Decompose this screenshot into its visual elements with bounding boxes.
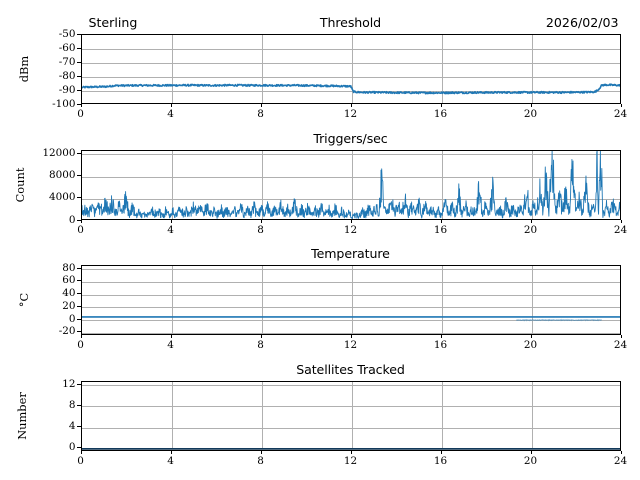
xtick-mark xyxy=(81,335,82,339)
xtick-mark xyxy=(441,451,442,455)
xtick-mark xyxy=(261,335,262,339)
chart-title-triggers_per_sec: Triggers/sec xyxy=(81,131,621,146)
data-series-threshold xyxy=(82,35,621,104)
xtick-mark xyxy=(171,451,172,455)
ytick-mark xyxy=(77,220,81,221)
xtick-label: 4 xyxy=(167,108,174,120)
data-series-satellites_tracked xyxy=(82,382,621,451)
ytick-mark xyxy=(77,76,81,77)
xtick-label: 16 xyxy=(434,455,447,467)
xtick-label: 20 xyxy=(524,339,537,351)
xtick-label: 0 xyxy=(77,224,84,236)
ytick-mark xyxy=(77,426,81,427)
xtick-label: 16 xyxy=(434,339,447,351)
ytick-label: 0 xyxy=(69,214,76,226)
xtick-mark xyxy=(261,104,262,108)
xtick-label: 12 xyxy=(344,455,357,467)
plot-area-threshold xyxy=(81,34,621,104)
ytick-label: 80 xyxy=(62,262,75,274)
chart-title-satellites_tracked: Satellites Tracked xyxy=(81,362,621,377)
xtick-label: 8 xyxy=(257,455,264,467)
plot-area-triggers_per_sec xyxy=(81,150,621,220)
ytick-label: -100 xyxy=(52,98,75,110)
ytick-mark xyxy=(77,331,81,332)
xtick-label: 8 xyxy=(257,339,264,351)
xtick-mark xyxy=(171,335,172,339)
ytick-label: -50 xyxy=(59,28,76,40)
xtick-mark xyxy=(261,451,262,455)
ytick-label: 8000 xyxy=(49,169,75,181)
ytick-mark xyxy=(77,104,81,105)
xtick-mark xyxy=(531,104,532,108)
xtick-mark xyxy=(531,220,532,224)
xtick-label: 0 xyxy=(77,455,84,467)
xtick-mark xyxy=(171,104,172,108)
ytick-label: 4000 xyxy=(49,191,75,203)
plot-area-satellites_tracked xyxy=(81,381,621,451)
station-label: Sterling xyxy=(89,15,138,30)
ytick-label: 20 xyxy=(62,300,75,312)
xtick-mark xyxy=(261,220,262,224)
xtick-label: 24 xyxy=(614,224,627,236)
ylabel-triggers_per_sec: Count xyxy=(13,167,27,202)
xtick-label: 12 xyxy=(344,224,357,236)
ytick-label: -20 xyxy=(59,325,76,337)
xtick-label: 0 xyxy=(77,108,84,120)
xtick-mark xyxy=(621,104,622,108)
xtick-mark xyxy=(81,104,82,108)
xtick-mark xyxy=(81,451,82,455)
xtick-label: 16 xyxy=(434,224,447,236)
xtick-mark xyxy=(351,335,352,339)
xtick-label: 12 xyxy=(344,108,357,120)
xtick-mark xyxy=(531,335,532,339)
xtick-mark xyxy=(441,104,442,108)
xtick-mark xyxy=(441,335,442,339)
xtick-mark xyxy=(351,220,352,224)
ytick-mark xyxy=(77,175,81,176)
xtick-label: 0 xyxy=(77,339,84,351)
xtick-label: 12 xyxy=(344,339,357,351)
ytick-label: 4 xyxy=(69,420,76,432)
ytick-mark xyxy=(77,306,81,307)
chart-title-temperature: Temperature xyxy=(81,246,621,261)
ytick-label: -60 xyxy=(59,42,76,54)
xtick-label: 20 xyxy=(524,455,537,467)
ytick-mark xyxy=(77,280,81,281)
ylabel-temperature: °C xyxy=(17,292,31,306)
ytick-mark xyxy=(77,268,81,269)
xtick-mark xyxy=(171,220,172,224)
xtick-label: 4 xyxy=(167,455,174,467)
ytick-mark xyxy=(77,90,81,91)
xtick-label: 4 xyxy=(167,224,174,236)
xtick-label: 20 xyxy=(524,108,537,120)
ytick-mark xyxy=(77,447,81,448)
xtick-mark xyxy=(531,451,532,455)
ytick-label: 0 xyxy=(69,441,76,453)
ylabel-satellites_tracked: Number xyxy=(15,392,29,440)
xtick-mark xyxy=(621,220,622,224)
ytick-label: 60 xyxy=(62,274,75,286)
ytick-label: 12000 xyxy=(42,147,75,159)
ytick-label: 8 xyxy=(69,399,76,411)
ylabel-threshold: dBm xyxy=(17,55,31,81)
ytick-mark xyxy=(77,62,81,63)
data-series-triggers_per_sec xyxy=(82,151,621,220)
xtick-label: 24 xyxy=(614,339,627,351)
ytick-mark xyxy=(77,405,81,406)
xtick-label: 8 xyxy=(257,108,264,120)
ytick-label: 12 xyxy=(62,378,75,390)
ytick-label: 0 xyxy=(69,313,76,325)
xtick-mark xyxy=(351,451,352,455)
xtick-label: 20 xyxy=(524,224,537,236)
date-label: 2026/02/03 xyxy=(546,15,619,30)
chart-title-threshold: Threshold xyxy=(81,15,621,30)
ytick-label: 40 xyxy=(62,287,75,299)
ytick-mark xyxy=(77,384,81,385)
ytick-mark xyxy=(77,293,81,294)
xtick-label: 24 xyxy=(614,455,627,467)
ytick-label: -70 xyxy=(59,56,76,68)
ytick-mark xyxy=(77,319,81,320)
xtick-mark xyxy=(81,220,82,224)
ytick-mark xyxy=(77,153,81,154)
xtick-label: 16 xyxy=(434,108,447,120)
plot-area-temperature xyxy=(81,265,621,335)
data-series-temperature xyxy=(82,266,621,335)
ytick-mark xyxy=(77,34,81,35)
figure-canvas: ThresholdSterling2026/02/03-100-90-80-70… xyxy=(0,0,640,480)
ytick-mark xyxy=(77,48,81,49)
xtick-mark xyxy=(351,104,352,108)
xtick-mark xyxy=(441,220,442,224)
xtick-label: 4 xyxy=(167,339,174,351)
ytick-mark xyxy=(77,197,81,198)
ytick-label: -90 xyxy=(59,84,76,96)
xtick-label: 24 xyxy=(614,108,627,120)
xtick-mark xyxy=(621,451,622,455)
ytick-label: -80 xyxy=(59,70,76,82)
xtick-mark xyxy=(621,335,622,339)
xtick-label: 8 xyxy=(257,224,264,236)
